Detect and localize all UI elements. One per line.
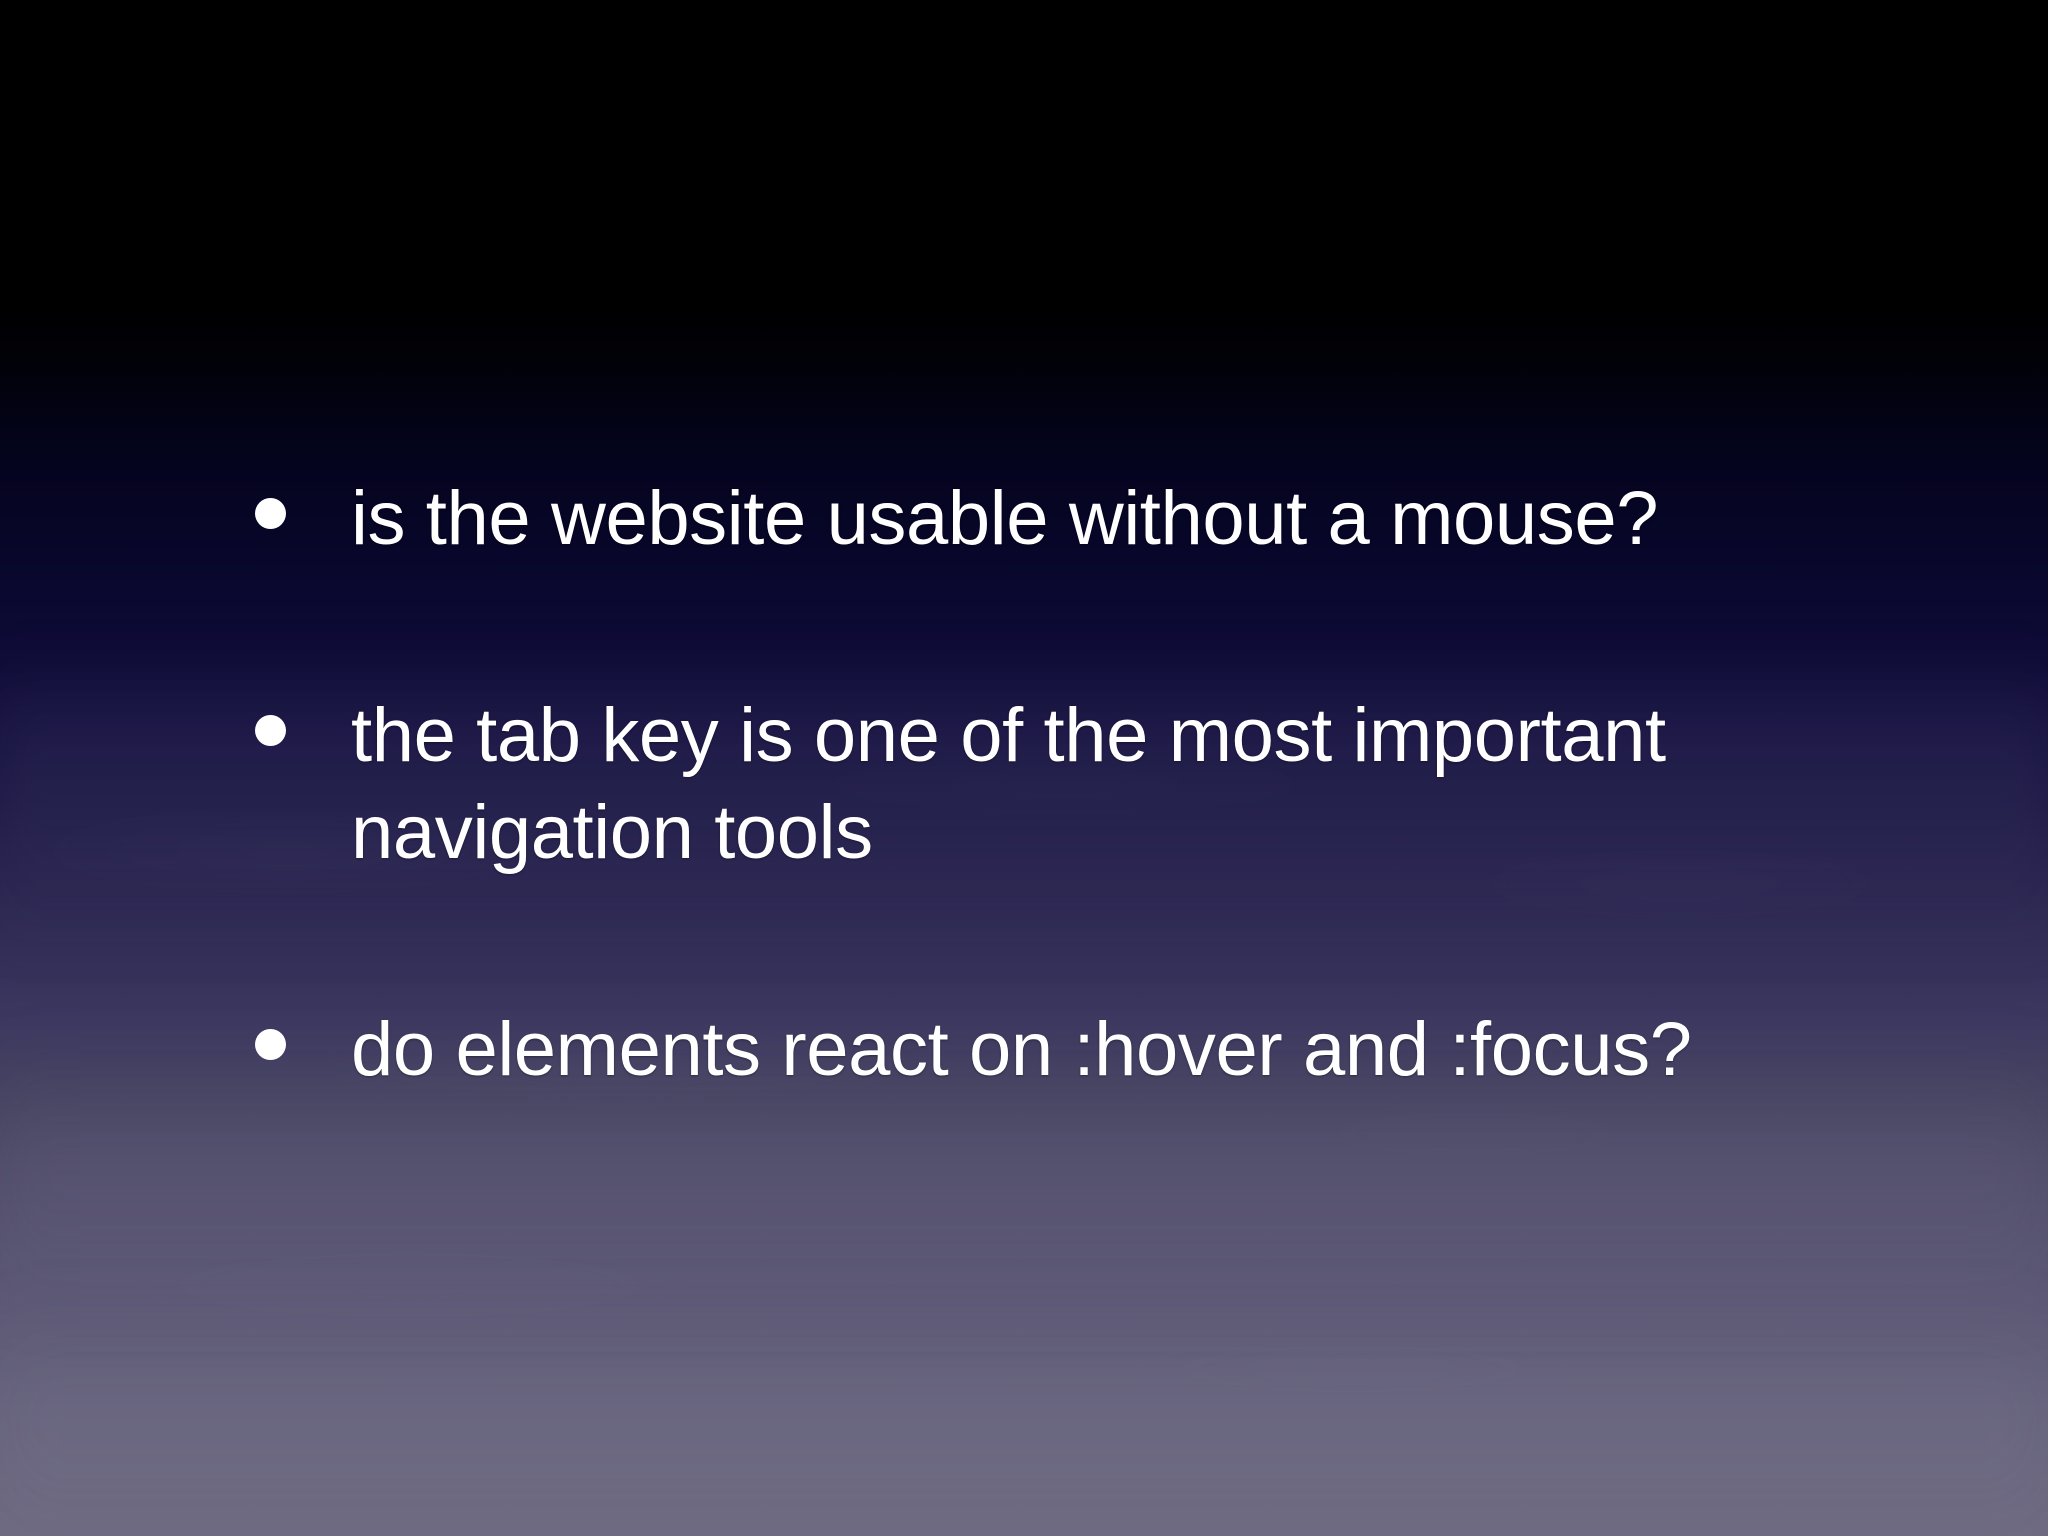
bullet-circle-icon [255,715,286,746]
list-item: do elements react on :hover and :focus? [255,1001,1895,1098]
list-item: the tab key is one of the most important… [255,687,1895,881]
bullet-list: is the website usable without a mouse? t… [255,470,1895,1098]
bullet-item-label: do elements react on :hover and :focus? [351,1001,1895,1098]
bullet-item-label: is the website usable without a mouse? [351,470,1895,567]
bullet-item-label: the tab key is one of the most important… [351,687,1895,881]
bullet-circle-icon [255,498,286,529]
bullet-circle-icon [255,1029,286,1060]
list-item: is the website usable without a mouse? [255,470,1895,567]
presentation-slide: is the website usable without a mouse? t… [0,0,2048,1536]
